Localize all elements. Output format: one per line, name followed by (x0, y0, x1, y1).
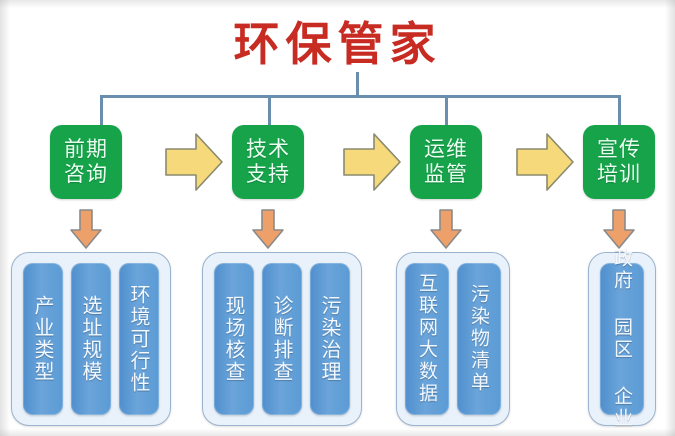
detail-pill-4-1[interactable]: 政府 园区 企业 (600, 263, 644, 415)
down-arrow-icon-1 (69, 208, 103, 250)
flow-arrow-right-icon-2 (342, 131, 402, 193)
detail-pill-label-1-2: 选址规模 (80, 295, 102, 383)
down-arrow-icon-3 (429, 208, 463, 250)
detail-pill-label-2-3: 污染治理 (319, 295, 341, 383)
stage-box-2[interactable]: 技术 支持 (232, 125, 304, 199)
detail-pill-1-3[interactable]: 环境可行性 (119, 263, 159, 415)
stage-box-3[interactable]: 运维 监管 (410, 125, 482, 199)
connector-drop-3 (445, 95, 448, 125)
detail-pill-2-3[interactable]: 污染治理 (310, 263, 350, 415)
stage-label-1-line2: 咨询 (64, 162, 108, 187)
stage-label-2-line1: 技术 (246, 137, 290, 162)
detail-pill-label-2-1: 现场核查 (223, 295, 245, 383)
detail-pill-label-1-1: 产业类型 (32, 295, 54, 383)
detail-pill-2-1[interactable]: 现场核查 (214, 263, 254, 415)
flow-arrow-right-icon-3 (515, 131, 575, 193)
stage-label-2-line2: 支持 (246, 162, 290, 187)
connector-horizontal-bar (100, 95, 621, 98)
detail-pill-label-4-1: 政府 园区 企业 (611, 248, 633, 430)
page-title: 环保管家 (0, 16, 675, 72)
detail-pill-2-2[interactable]: 诊断排查 (262, 263, 302, 415)
flow-arrow-right-icon-1 (164, 131, 224, 193)
stage-box-4[interactable]: 宣传 培训 (583, 125, 655, 199)
stage-label-1-line1: 前期 (64, 137, 108, 162)
detail-group-2: 现场核查 诊断排查 污染治理 (202, 252, 362, 426)
detail-pill-label-2-2: 诊断排查 (271, 295, 293, 383)
detail-pill-3-2[interactable]: 污染物清单 (457, 263, 501, 415)
detail-group-4: 政府 园区 企业 (588, 252, 656, 426)
connector-drop-4 (618, 95, 621, 125)
detail-pill-3-1[interactable]: 互联网大数据 (405, 263, 449, 415)
stage-label-3-line1: 运维 (424, 137, 468, 162)
stage-box-1[interactable]: 前期 咨询 (50, 125, 122, 199)
connector-drop-1 (100, 95, 103, 125)
connector-drop-2 (268, 95, 271, 125)
detail-group-1: 产业类型 选址规模 环境可行性 (11, 252, 171, 426)
pill-list-4: 政府 园区 企业 (590, 253, 654, 425)
down-arrow-icon-2 (251, 208, 285, 250)
stage-label-4-line2: 培训 (597, 162, 641, 187)
pill-list-1: 产业类型 选址规模 环境可行性 (13, 253, 169, 425)
diagram-canvas: 环保管家 前期 咨询 技术 支持 运维 监管 宣传 培训 (0, 0, 675, 436)
stage-label-3-line2: 监管 (424, 162, 468, 187)
detail-pill-1-2[interactable]: 选址规模 (71, 263, 111, 415)
pill-list-3: 互联网大数据 污染物清单 (395, 253, 511, 425)
detail-pill-1-1[interactable]: 产业类型 (23, 263, 63, 415)
stage-label-4-line1: 宣传 (597, 137, 641, 162)
detail-group-3: 互联网大数据 污染物清单 (396, 252, 510, 426)
detail-pill-label-1-3: 环境可行性 (128, 284, 150, 394)
detail-pill-label-3-1: 互联网大数据 (416, 273, 438, 405)
down-arrow-icon-4 (602, 208, 636, 250)
pill-list-2: 现场核查 诊断排查 污染治理 (204, 253, 360, 425)
detail-pill-label-3-2: 污染物清单 (468, 284, 490, 394)
